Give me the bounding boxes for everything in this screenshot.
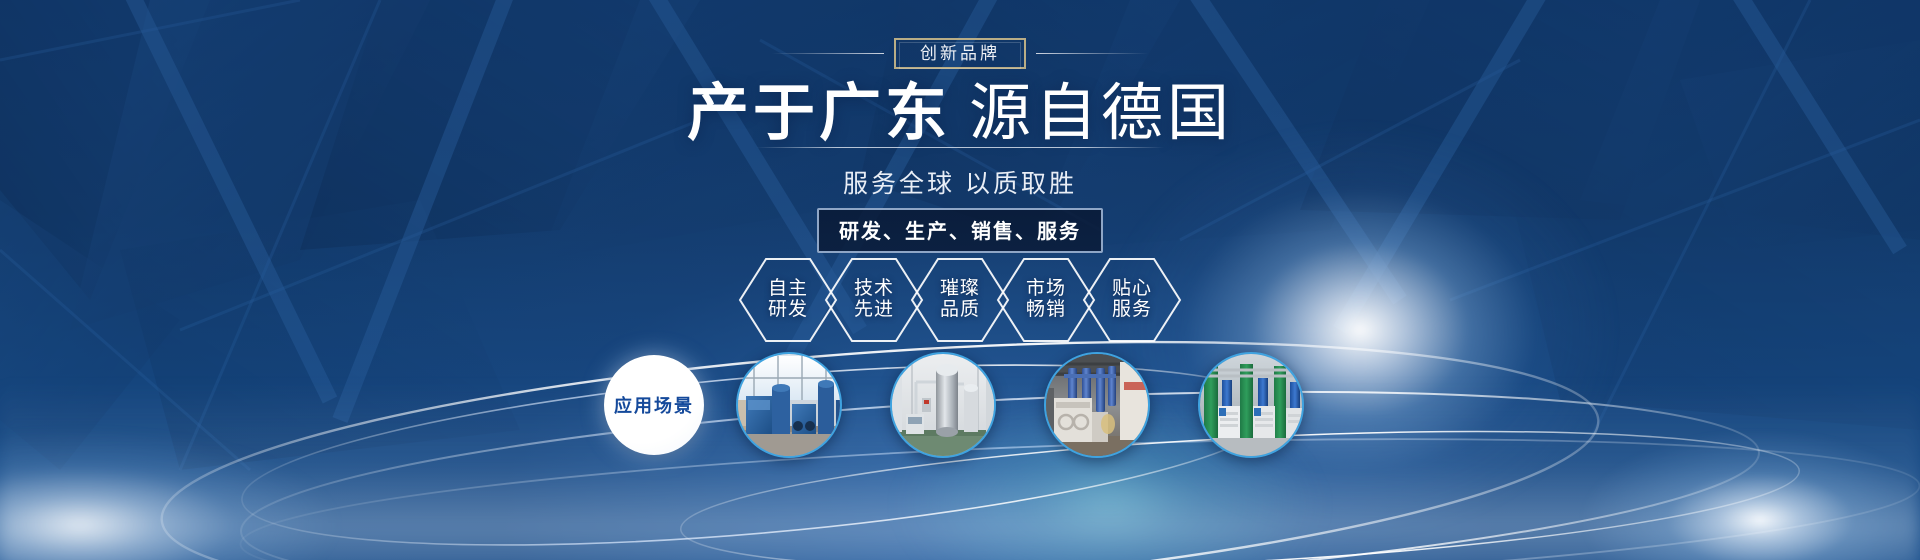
banner-subtitle: 服务全球 以质取胜 [0, 164, 1920, 200]
application-scene-row: 应用场景 [604, 352, 1304, 458]
badge-rule-left [772, 53, 884, 54]
application-scene-circle[interactable]: 应用场景 [604, 355, 704, 455]
hexagon-label: 技术 先进 [854, 279, 894, 320]
headline-part-2: 源自德国 [969, 79, 1233, 148]
scene-photo-green-oxygen-generator-line[interactable] [1198, 352, 1304, 458]
promo-banner: 创新品牌 产于广东源自德国 服务全球 以质取胜 研发、生产、销售、服务 自主 研 [0, 0, 1920, 560]
scene-photo-blue-air-compressor-workshop[interactable] [736, 352, 842, 458]
headline-part-1: 产于广东 [687, 79, 951, 148]
tagline-row: 研发、生产、销售、服务 [0, 208, 1920, 253]
scene-photo-industrial-piping-plant[interactable] [1044, 352, 1150, 458]
scene-photo-nitrogen-generator-tank-room[interactable] [890, 352, 996, 458]
tagline-box: 研发、生产、销售、服务 [817, 208, 1103, 253]
banner-headline: 产于广东源自德国 [0, 62, 1920, 152]
badge-rule-right [1036, 53, 1148, 54]
tagline-label: 研发、生产、销售、服务 [839, 221, 1081, 243]
hexagon-label: 璀璨 品质 [940, 279, 980, 320]
hexagon-label: 市场 畅销 [1026, 279, 1066, 320]
hexagon-caring-service[interactable]: 贴心 服务 [1080, 255, 1184, 345]
headline-divider [756, 147, 1164, 148]
innovation-badge-label: 创新品牌 [920, 44, 1000, 63]
feature-hexagon-row: 自主 研发 技术 先进 璀璨 品质 市场 畅销 [0, 255, 1920, 345]
application-scene-label: 应用场景 [614, 392, 694, 418]
hexagon-label: 自主 研发 [768, 279, 808, 320]
hexagon-label: 贴心 服务 [1112, 279, 1152, 320]
